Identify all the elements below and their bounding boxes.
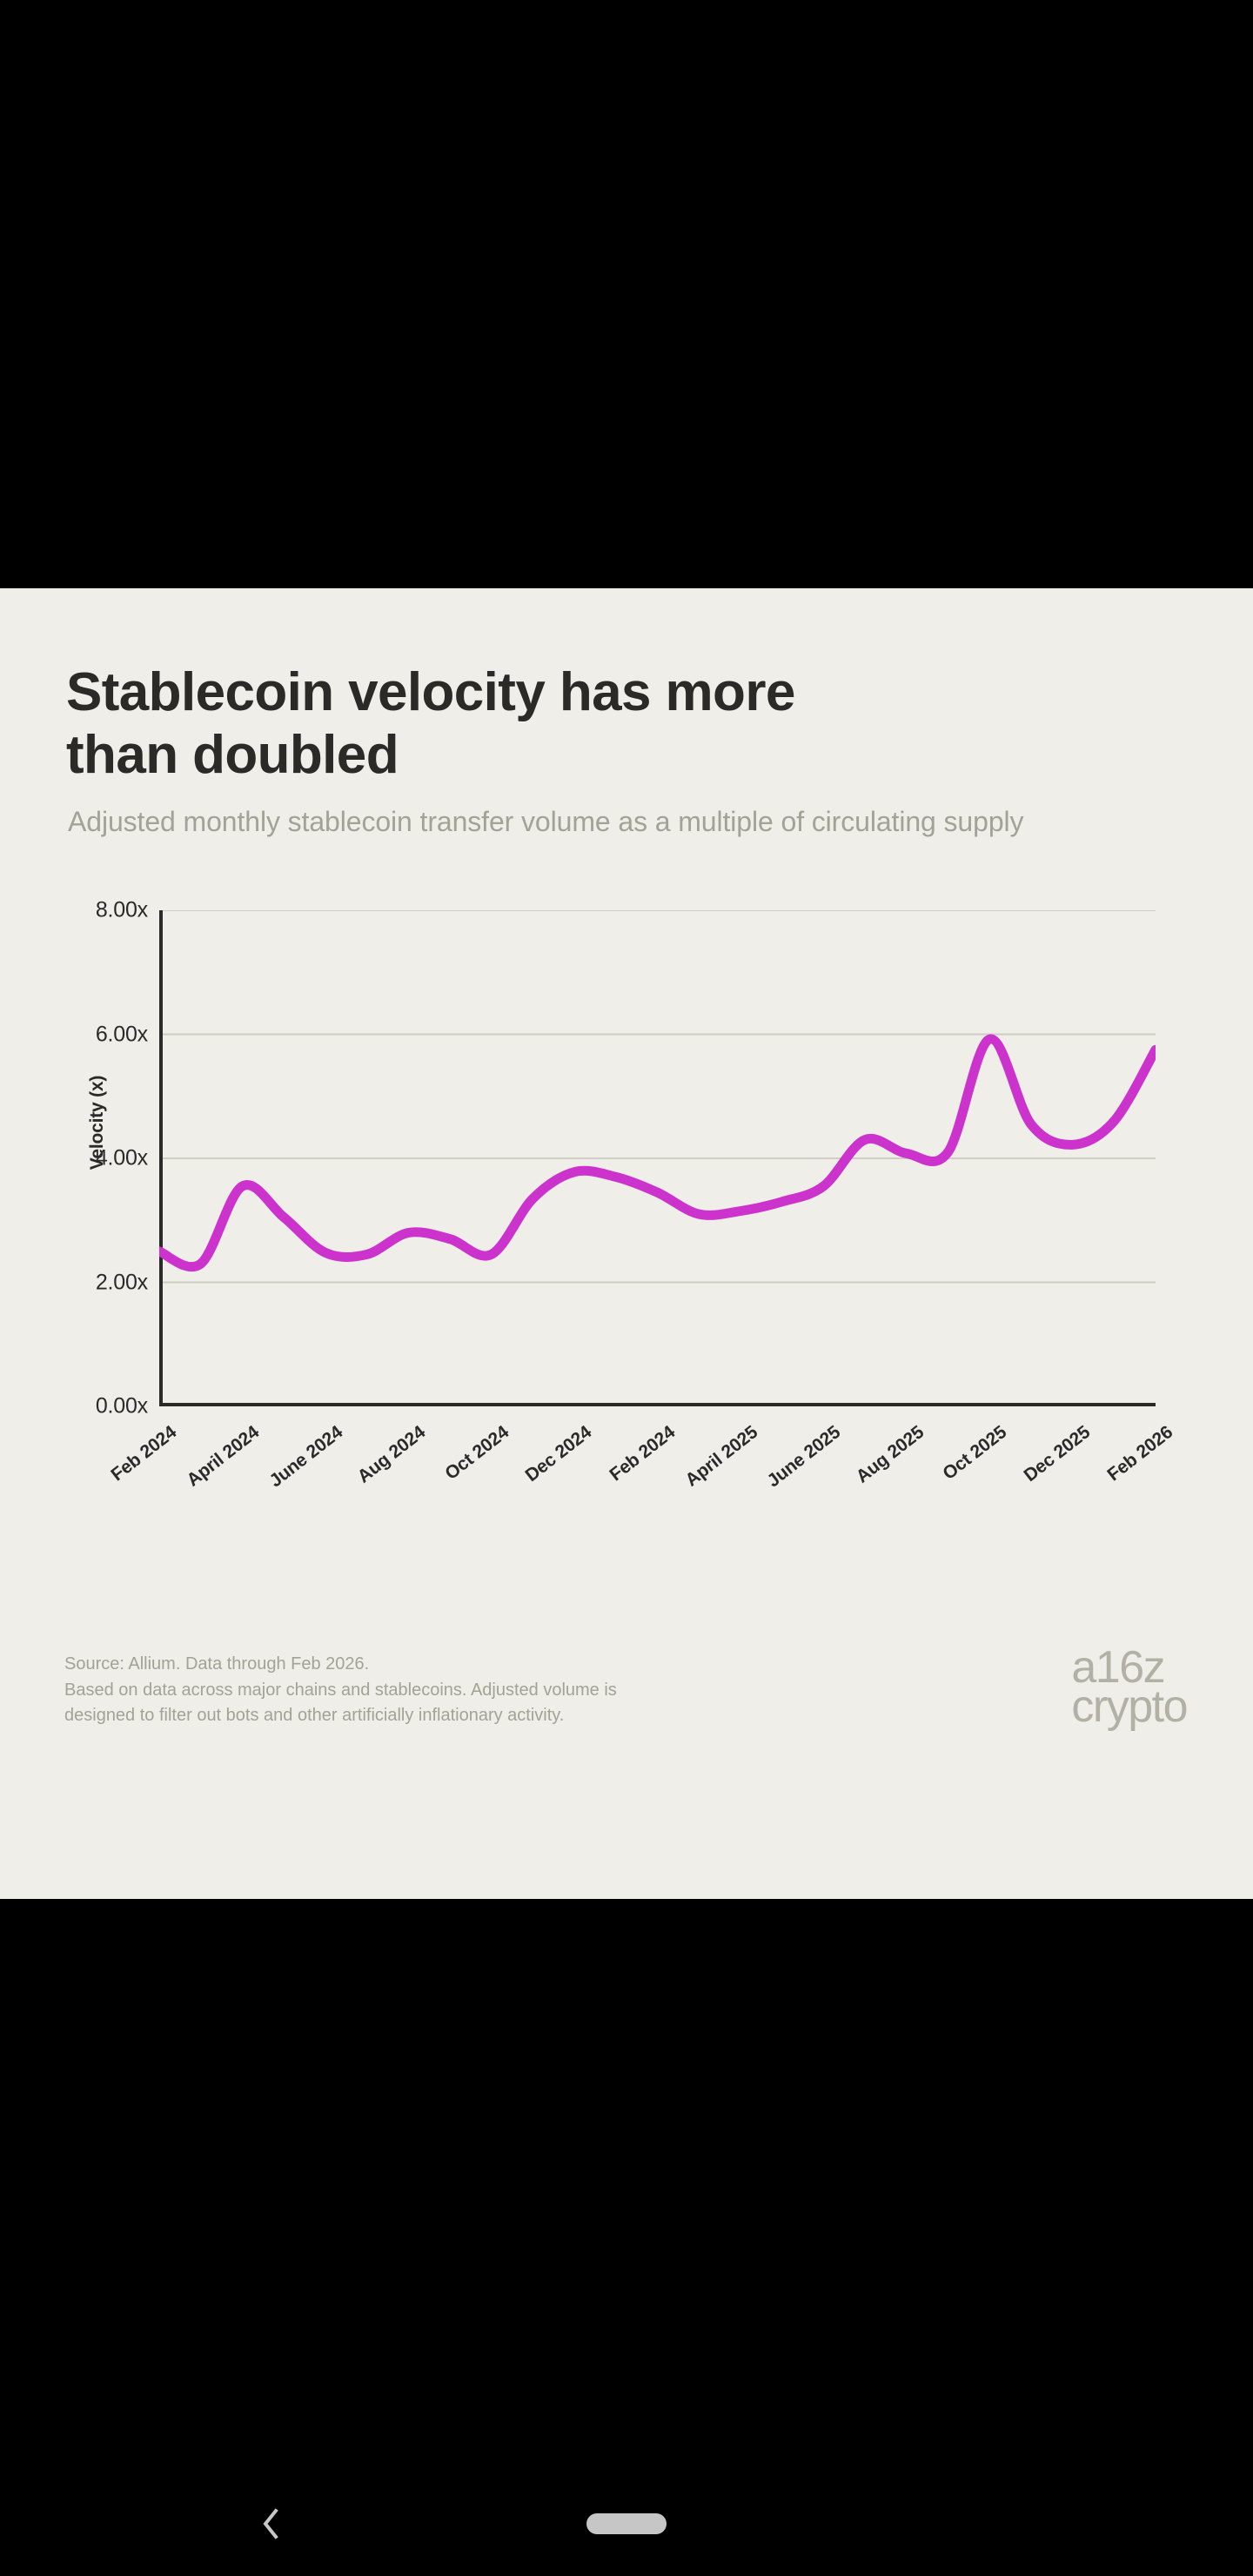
android-navigation-bar [0,2472,1253,2576]
phone-screen: Stablecoin velocity has more than double… [0,0,1253,2576]
source-line-2: Based on data across major chains and st… [64,1678,830,1704]
page-subtitle: Adjusted monthly stablecoin transfer vol… [68,804,1190,841]
headline-line-1: Stablecoin velocity has more [66,661,980,724]
back-icon[interactable] [252,2505,291,2543]
headline-line-2: than doubled [66,724,980,787]
gridlines [159,910,1156,1283]
y-tick-label: 2.00x [26,1270,148,1295]
home-indicator-pill[interactable] [586,2513,667,2534]
y-tick-label: 0.00x [26,1394,148,1419]
y-axis-title: Velocity (x) [87,1018,108,1227]
y-tick-label: 4.00x [26,1146,148,1171]
source-line-3: designed to filter out bots and other ar… [64,1703,830,1729]
source-line-1: Source: Allium. Data through Feb 2026. [64,1652,830,1678]
y-tick-label: 6.00x [26,1022,148,1047]
y-tick-label: 8.00x [26,898,148,923]
logo-line-crypto: crypto [1071,1687,1187,1727]
source-note: Source: Allium. Data through Feb 2026. B… [64,1652,830,1729]
chart-svg [159,910,1156,1406]
series-line-stablecoin-velocity [159,1039,1156,1267]
chevron-left-icon [252,2505,291,2543]
plot-area [159,910,1156,1406]
x-axis-tick-labels: Feb 2024April 2024June 2024Aug 2024Oct 2… [159,1422,1156,1561]
page-title: Stablecoin velocity has more than double… [66,661,980,787]
a16z-crypto-logo: a16z crypto [1071,1648,1187,1726]
line-chart: Velocity (x) 8.00x6.00x4.00x2.00x0.00x F… [0,895,1253,1591]
infographic-card: Stablecoin velocity has more than double… [0,588,1253,1899]
letterbox-top [0,0,1253,588]
